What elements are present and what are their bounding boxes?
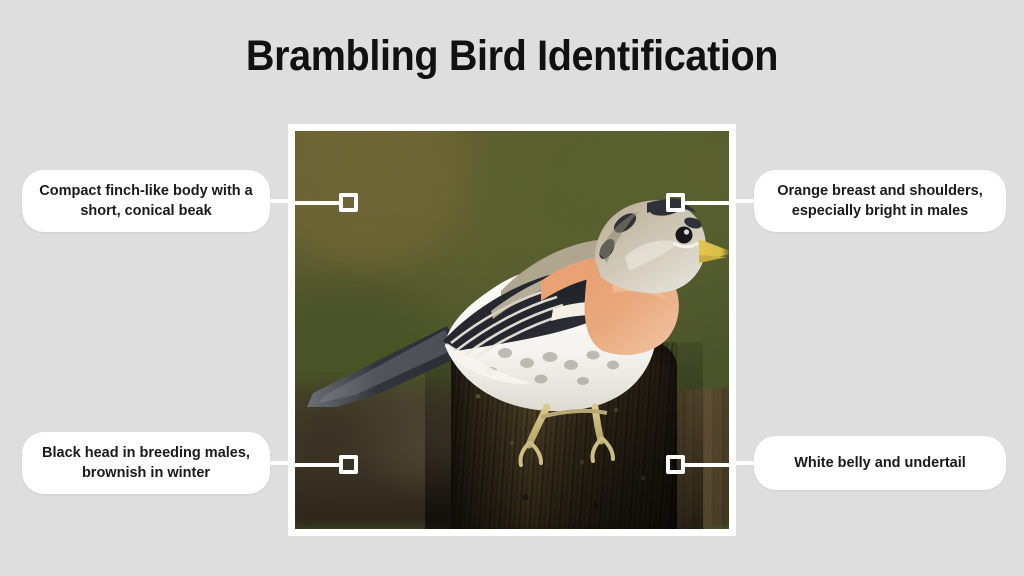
- bird-eye-highlight: [684, 229, 689, 234]
- infographic-canvas: Brambling Bird Identification: [0, 0, 1024, 576]
- connector-line-belly: [681, 463, 729, 467]
- feature-marker-belly[interactable]: [666, 455, 685, 474]
- bird-beak-lower: [699, 255, 727, 263]
- callout-black-head[interactable]: Black head in breeding males, brownish i…: [22, 432, 270, 494]
- callout-white-belly-label: White belly and undertail: [794, 453, 966, 473]
- callout-compact-body[interactable]: Compact finch-like body with a short, co…: [22, 170, 270, 232]
- callout-black-head-label: Black head in breeding males, brownish i…: [38, 443, 254, 483]
- page-title: Brambling Bird Identification: [41, 32, 983, 81]
- bird-eye: [676, 227, 693, 244]
- callout-white-belly[interactable]: White belly and undertail: [754, 436, 1006, 490]
- bird-leg-left: [529, 407, 547, 445]
- photo-frame: [288, 124, 736, 536]
- callout-orange-breast[interactable]: Orange breast and shoulders, especially …: [754, 170, 1006, 232]
- feature-marker-breast[interactable]: [666, 193, 685, 212]
- connector-line-breast: [681, 201, 729, 205]
- callout-orange-breast-label: Orange breast and shoulders, especially …: [770, 181, 990, 221]
- brambling-bird-illustration: [295, 131, 729, 529]
- feature-marker-head[interactable]: [339, 455, 358, 474]
- callout-compact-body-label: Compact finch-like body with a short, co…: [38, 181, 254, 221]
- connector-line-body: [295, 201, 343, 205]
- connector-line-head: [295, 463, 343, 467]
- feature-marker-body[interactable]: [339, 193, 358, 212]
- bird-claws: [520, 439, 613, 465]
- bird-photo: [295, 131, 729, 529]
